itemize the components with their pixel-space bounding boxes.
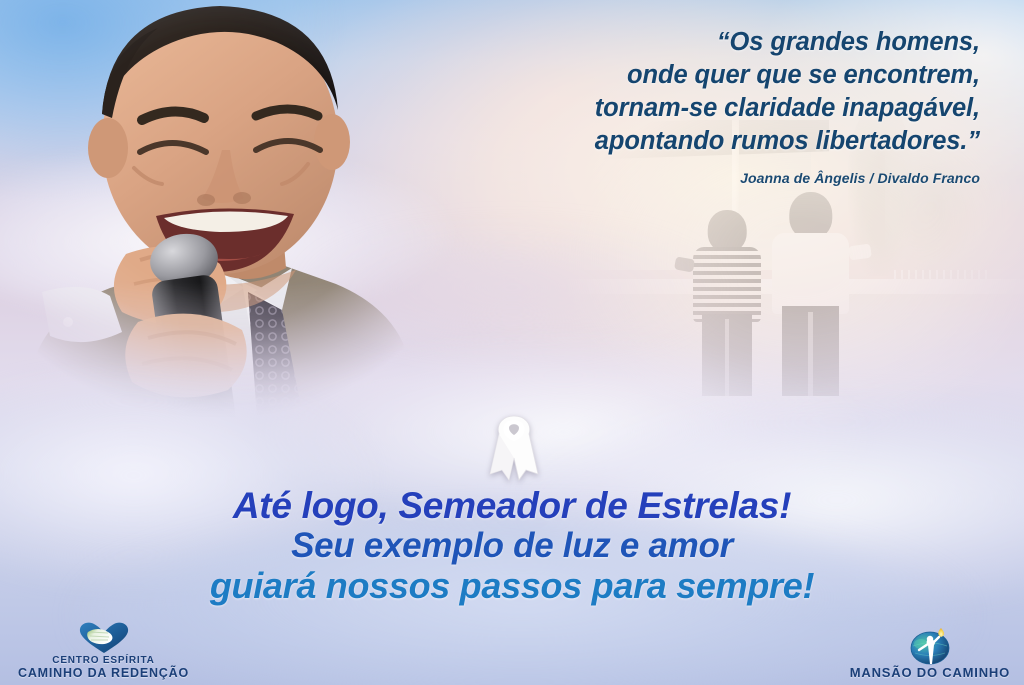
scene-person-torso [772,233,849,315]
logo-centro-espirita: CENTRO ESPÍRITA CAMINHO DA REDENÇÃO [18,620,189,679]
scene-person-legs [702,314,752,396]
quote-attribution: Joanna de Ângelis / Divaldo Franco [420,170,980,186]
background-photo-two-people-walking [560,120,1024,420]
logo-left-line-2: CAMINHO DA REDENÇÃO [18,667,189,679]
scene-person-torso [693,247,761,321]
mourning-ribbon-icon [486,408,542,482]
headline-line-1: Até logo, Semeador de Estrelas! [0,486,1024,526]
quote-line-2: onde quer que se encontrem, [420,59,980,92]
scene-palm [885,144,1006,282]
headline-line-3: guiará nossos passos para sempre! [0,566,1024,606]
quote-line-3: tornam-se claridade inapagável, [420,92,980,125]
quote-text: “Os grandes homens, onde quer que se enc… [420,26,980,158]
scene-person-head [708,210,747,252]
logo-mansao-do-caminho-text: MANSÃO DO CAMINHO [850,667,1010,679]
globe-figure-flame-icon [908,626,952,666]
heart-hand-icon [78,620,130,654]
scene-person-adult [769,192,853,396]
scene-person-head [789,192,832,239]
headline-block: Até logo, Semeador de Estrelas! Seu exem… [0,486,1024,606]
logo-mansao-do-caminho: MANSÃO DO CAMINHO [850,626,1010,679]
logo-centro-espirita-text: CENTRO ESPÍRITA CAMINHO DA REDENÇÃO [18,655,189,679]
quote-line-1: “Os grandes homens, [420,26,980,59]
headline-line-2: Seu exemplo de luz e amor [0,526,1024,566]
scene-person-arm [674,257,695,273]
memorial-poster: “Os grandes homens, onde quer que se enc… [0,0,1024,685]
scene-person-child [690,210,764,396]
quote-line-4: apontando rumos libertadores.” [420,125,980,158]
logo-right-line-2: MANSÃO DO CAMINHO [850,667,1010,679]
portrait-divaldo-franco [6,0,446,432]
scene-person-legs [782,306,839,396]
